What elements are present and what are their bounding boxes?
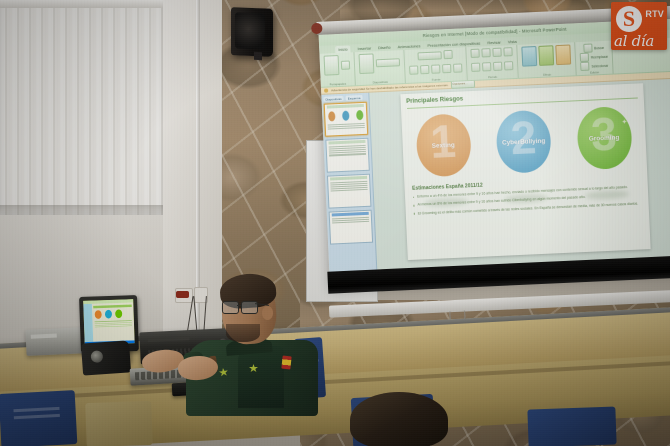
ppt-workspace: Diapositivas Esquema [321, 79, 670, 277]
cut-icon[interactable] [341, 60, 350, 69]
list-buttons[interactable] [470, 47, 512, 58]
risk-label: Sexting [432, 141, 455, 149]
monitor-screen [83, 299, 135, 345]
slide-thumbnail-pane[interactable]: Diapositivas Esquema [321, 93, 377, 277]
sparkle-icon: ✦ [621, 118, 627, 126]
chair-slot [14, 414, 60, 419]
risk-label: Grooming [589, 134, 620, 142]
shadow-icon[interactable] [442, 63, 451, 72]
slide-editing-area[interactable]: Principales Riesgos 1 Sexting 2 [369, 79, 670, 275]
risk-oval-cyberbullying[interactable]: 2 CyberBullying [495, 110, 552, 174]
font-name-box[interactable] [417, 50, 452, 61]
line-spacing-icon[interactable] [503, 47, 512, 56]
current-slide[interactable]: Principales Riesgos 1 Sexting 2 [400, 83, 650, 260]
broadcaster-watermark-logo: S RTV al día [611, 2, 667, 50]
window-blinds [0, 0, 163, 215]
slide-thumbnail-4[interactable] [329, 210, 373, 245]
slide-title: Principales Riesgos [406, 96, 463, 105]
chair-slot [13, 407, 59, 412]
desk-foreground [85, 401, 152, 446]
numbering-icon[interactable] [481, 48, 490, 57]
glasses-bridge [237, 305, 241, 306]
officer-beard [226, 324, 260, 342]
replace-label[interactable]: Reemplazar [591, 54, 608, 59]
indent-icon[interactable] [492, 48, 501, 57]
risk-diagram: 1 Sexting 2 CyberBullying [415, 106, 633, 178]
chair-foreground-right [527, 406, 616, 446]
group-label: Párrafo [488, 75, 497, 79]
bullet-marker [413, 205, 415, 207]
risk-oval-sexting[interactable]: 1 Sexting [415, 113, 472, 177]
font-size-input[interactable] [443, 50, 452, 59]
bullet-marker [413, 213, 415, 215]
font-name-input[interactable] [417, 51, 441, 60]
new-slide-icon[interactable] [359, 53, 375, 74]
thumb-text [327, 144, 369, 159]
monitor-mirrored-slide [83, 299, 135, 345]
tab-inicio[interactable]: Inicio [335, 45, 351, 53]
speaker-cone [235, 12, 265, 49]
risk-label: CyberBullying [502, 137, 546, 146]
logo-rtv-text: RTV [645, 9, 664, 19]
speaker-bracket [254, 52, 262, 61]
group-label: Dibujo [543, 72, 551, 76]
font-style-buttons[interactable] [409, 63, 462, 74]
officer-ear [262, 306, 273, 320]
slides-buttons[interactable] [359, 52, 401, 74]
slide-thumbnail-3[interactable] [327, 174, 371, 209]
underline-icon[interactable] [431, 64, 440, 73]
clipboard-buttons[interactable] [324, 55, 351, 76]
search-icon[interactable] [583, 44, 592, 53]
officer-vest [238, 346, 284, 408]
drawing-buttons[interactable] [521, 44, 571, 66]
screen-surface: Riesgos en Internet [Modo de compatibili… [319, 19, 670, 287]
group-label: Edición [590, 70, 599, 74]
font-color-icon[interactable] [453, 63, 462, 72]
thumb-text [330, 216, 371, 226]
thumb-text [328, 180, 369, 193]
italic-icon[interactable] [420, 64, 429, 73]
bullets-icon[interactable] [470, 49, 479, 58]
roller-end-cap [311, 23, 322, 34]
tab-revisar[interactable]: Revisar [487, 39, 501, 45]
audience-member-head [350, 392, 448, 446]
chair-foreground-left [0, 390, 77, 446]
tab-insertar[interactable]: Insertar [357, 45, 371, 51]
projected-powerpoint: Riesgos en Internet [Modo de compatibili… [319, 19, 670, 287]
align-center-icon[interactable] [482, 62, 491, 71]
align-right-icon[interactable] [493, 61, 502, 70]
align-buttons[interactable] [471, 61, 513, 72]
warning-icon [324, 89, 328, 93]
layout-icon[interactable] [376, 58, 400, 67]
select-label[interactable]: Seleccionar [591, 63, 608, 68]
logo-tagline: al día [614, 34, 654, 49]
spanish-flag-patch [281, 356, 291, 370]
quick-styles-icon[interactable] [555, 44, 571, 65]
paste-icon[interactable] [324, 55, 340, 76]
shapes-icon[interactable] [521, 46, 537, 67]
photograph: Riesgos en Internet [Modo de compatibili… [0, 0, 670, 446]
ribbon-group-dibujo: Dibujo [517, 42, 576, 78]
ribbon-group-diapositivas: Diapositivas [354, 50, 405, 85]
bag-buckle [90, 350, 103, 363]
arrange-icon[interactable] [538, 45, 554, 66]
find-label[interactable]: Buscar [594, 45, 604, 49]
bullet-marker [413, 196, 415, 198]
justify-icon[interactable] [504, 61, 513, 70]
ribbon-group-portapapeles: Portapapeles [319, 52, 355, 87]
thumb-text [326, 122, 367, 132]
tab-vista[interactable]: Vista [508, 38, 517, 43]
ribbon-group-fuente: Fuente [404, 47, 467, 83]
eyeglasses [222, 301, 256, 312]
tab-diseno[interactable]: Diseño [378, 44, 391, 50]
projector-screen: Riesgos en Internet [Modo de compatibili… [316, 6, 670, 352]
select-icon[interactable] [580, 62, 589, 71]
slide-thumbnail-2[interactable] [325, 138, 369, 173]
lens-left [222, 301, 239, 314]
group-label: Fuente [432, 77, 441, 81]
bold-icon[interactable] [409, 65, 418, 74]
slide-subtitle: Estimaciones España 2011/12 [412, 183, 483, 192]
tab-esquema[interactable]: Esquema [346, 95, 363, 101]
equipment-bag [81, 340, 131, 375]
group-label: Portapapeles [330, 82, 347, 87]
slide-thumbnail-1[interactable] [324, 102, 368, 137]
replace-icon[interactable] [580, 53, 589, 62]
ribbon-group-edicion: Buscar Reemplazar Seleccionar Edición [575, 41, 614, 76]
pane-tabs[interactable]: Diapositivas Esquema [323, 95, 366, 102]
wall-speaker [231, 7, 273, 57]
ribbon-group-parrafo: Párrafo [466, 45, 518, 80]
risk-oval-grooming[interactable]: 3 Grooming ✦ [576, 106, 633, 170]
tab-animaciones[interactable]: Animaciones [397, 43, 420, 49]
blinds-headrail [0, 0, 163, 8]
optical-drive [148, 336, 190, 342]
presenter [186, 272, 318, 412]
align-left-icon[interactable] [471, 62, 480, 71]
logo-s-badge: S [616, 6, 642, 32]
tab-diapositivas[interactable]: Diapositivas [323, 96, 343, 102]
group-label: Diapositivas [373, 80, 388, 85]
optical-drive-bay [31, 334, 57, 339]
logo-letter: S [623, 8, 635, 30]
